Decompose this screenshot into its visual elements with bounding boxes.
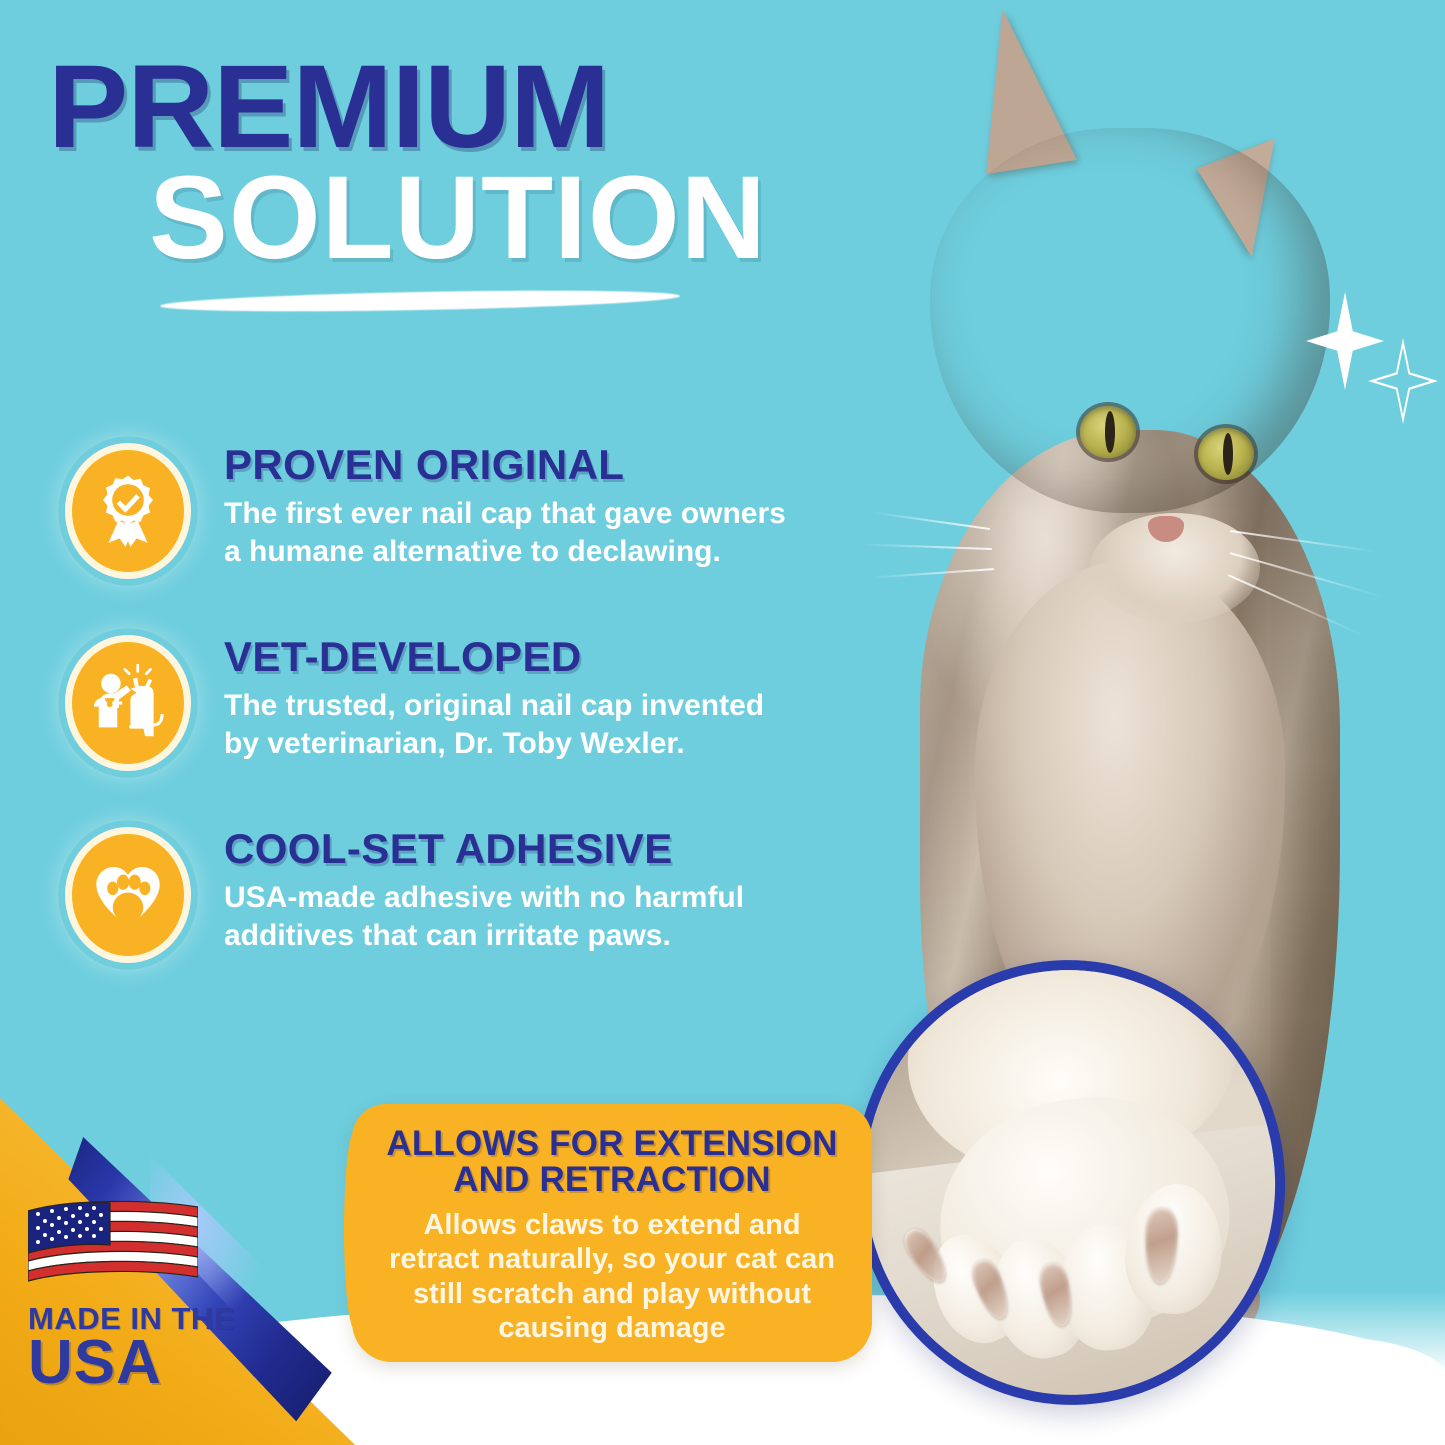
headline-underline-swoosh xyxy=(160,287,680,315)
headline-block: PREMIUM SOLUTION xyxy=(48,52,838,274)
feature-text-block: COOL-SET ADHESIVE USA-made adhesive with… xyxy=(224,820,804,954)
feature-description: The trusted, original nail cap invented … xyxy=(224,687,804,763)
cat-head xyxy=(930,128,1330,513)
callout-body: Allows claws to extend and retract natur… xyxy=(378,1208,846,1345)
feature-title: PROVEN ORIGINAL xyxy=(224,444,804,487)
feature-description: USA-made adhesive with no harmful additi… xyxy=(224,879,804,955)
usa-flag-icon xyxy=(28,1197,198,1293)
feature-title: VET-DEVELOPED xyxy=(224,636,804,679)
feature-item-cool-set-adhesive: COOL-SET ADHESIVE USA-made adhesive with… xyxy=(58,820,848,970)
feature-text-block: PROVEN ORIGINAL The first ever nail cap … xyxy=(224,436,804,570)
callout-title: ALLOWS FOR EXTENSION AND RETRACTION xyxy=(378,1126,846,1198)
page-title-line2: SOLUTION xyxy=(48,163,838,274)
feature-text-block: VET-DEVELOPED The trusted, original nail… xyxy=(224,628,804,762)
page-title-line1: PREMIUM xyxy=(48,52,854,163)
feature-title: COOL-SET ADHESIVE xyxy=(224,828,804,871)
made-in-usa-badge: MADE IN THE USA xyxy=(28,1197,298,1393)
made-in-usa-line2: USA xyxy=(28,1334,298,1393)
feature-item-proven-original: PROVEN ORIGINAL The first ever nail cap … xyxy=(58,436,848,586)
feature-description: The first ever nail cap that gave owners… xyxy=(224,495,804,571)
page-curl-corner: MADE IN THE USA xyxy=(0,1045,420,1445)
callout-extension-retraction: ALLOWS FOR EXTENSION AND RETRACTION Allo… xyxy=(352,1104,872,1362)
feature-list: PROVEN ORIGINAL The first ever nail cap … xyxy=(58,436,848,1012)
feature-item-vet-developed: VET-DEVELOPED The trusted, original nail… xyxy=(58,628,848,778)
vet-highfive-cat-icon xyxy=(58,628,198,778)
heart-paw-icon xyxy=(58,820,198,970)
cat-eye-left xyxy=(1080,406,1136,458)
cat-eye-right xyxy=(1198,428,1254,480)
award-ribbon-check-icon xyxy=(58,436,198,586)
product-infographic-poster: PREMIUM SOLUTION PROVEN ORIGINAL The fir… xyxy=(0,0,1445,1445)
